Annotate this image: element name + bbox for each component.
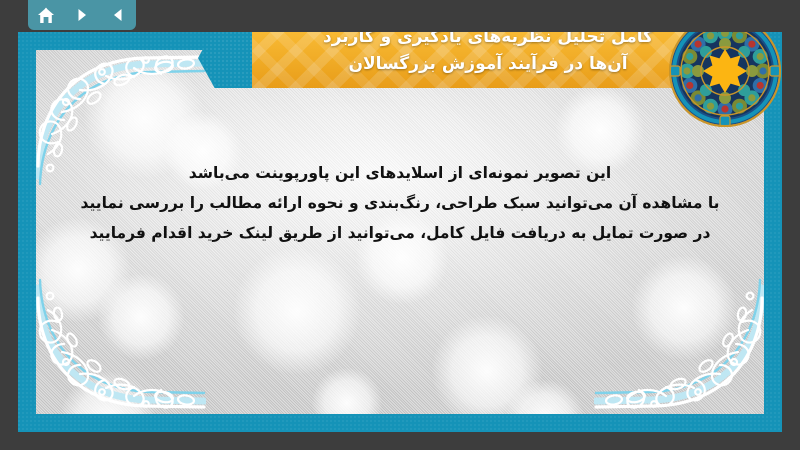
next-slide-button[interactable] <box>69 4 95 26</box>
filigree-corner-ornament-bottom-left <box>36 264 206 414</box>
bokeh-circle <box>234 248 360 374</box>
home-icon <box>37 7 55 24</box>
body-line: این تصویر نمونه‌ای از اسلایدهای این پاور… <box>76 158 724 188</box>
bokeh-circle <box>60 372 156 414</box>
filigree-corner-ornament-bottom-right <box>594 264 764 414</box>
slide-navigation-bar <box>28 0 136 30</box>
bokeh-circle <box>312 368 382 414</box>
bokeh-circle <box>632 256 736 360</box>
body-line: در صورت تمایل به دریافت فایل کامل، می‌تو… <box>76 218 724 248</box>
bokeh-circle <box>98 274 184 360</box>
triangle-left-icon <box>110 7 126 23</box>
triangle-right-icon <box>74 7 90 23</box>
window-chrome <box>0 0 800 32</box>
previous-slide-button[interactable] <box>105 4 131 26</box>
bokeh-circle <box>432 316 542 414</box>
body-line: با مشاهده آن می‌توانید سبک طراحی، رنگ‌بن… <box>76 188 724 218</box>
slide-content-area: این تصویر نمونه‌ای از اسلایدهای این پاور… <box>36 50 764 414</box>
slide-body-text: این تصویر نمونه‌ای از اسلایدهای این پاور… <box>76 158 724 249</box>
bokeh-circle <box>506 380 584 414</box>
slide-title-line-2: آن‌ها در فرآیند آموزش بزرگسالان <box>348 52 627 77</box>
home-button[interactable] <box>33 4 59 26</box>
